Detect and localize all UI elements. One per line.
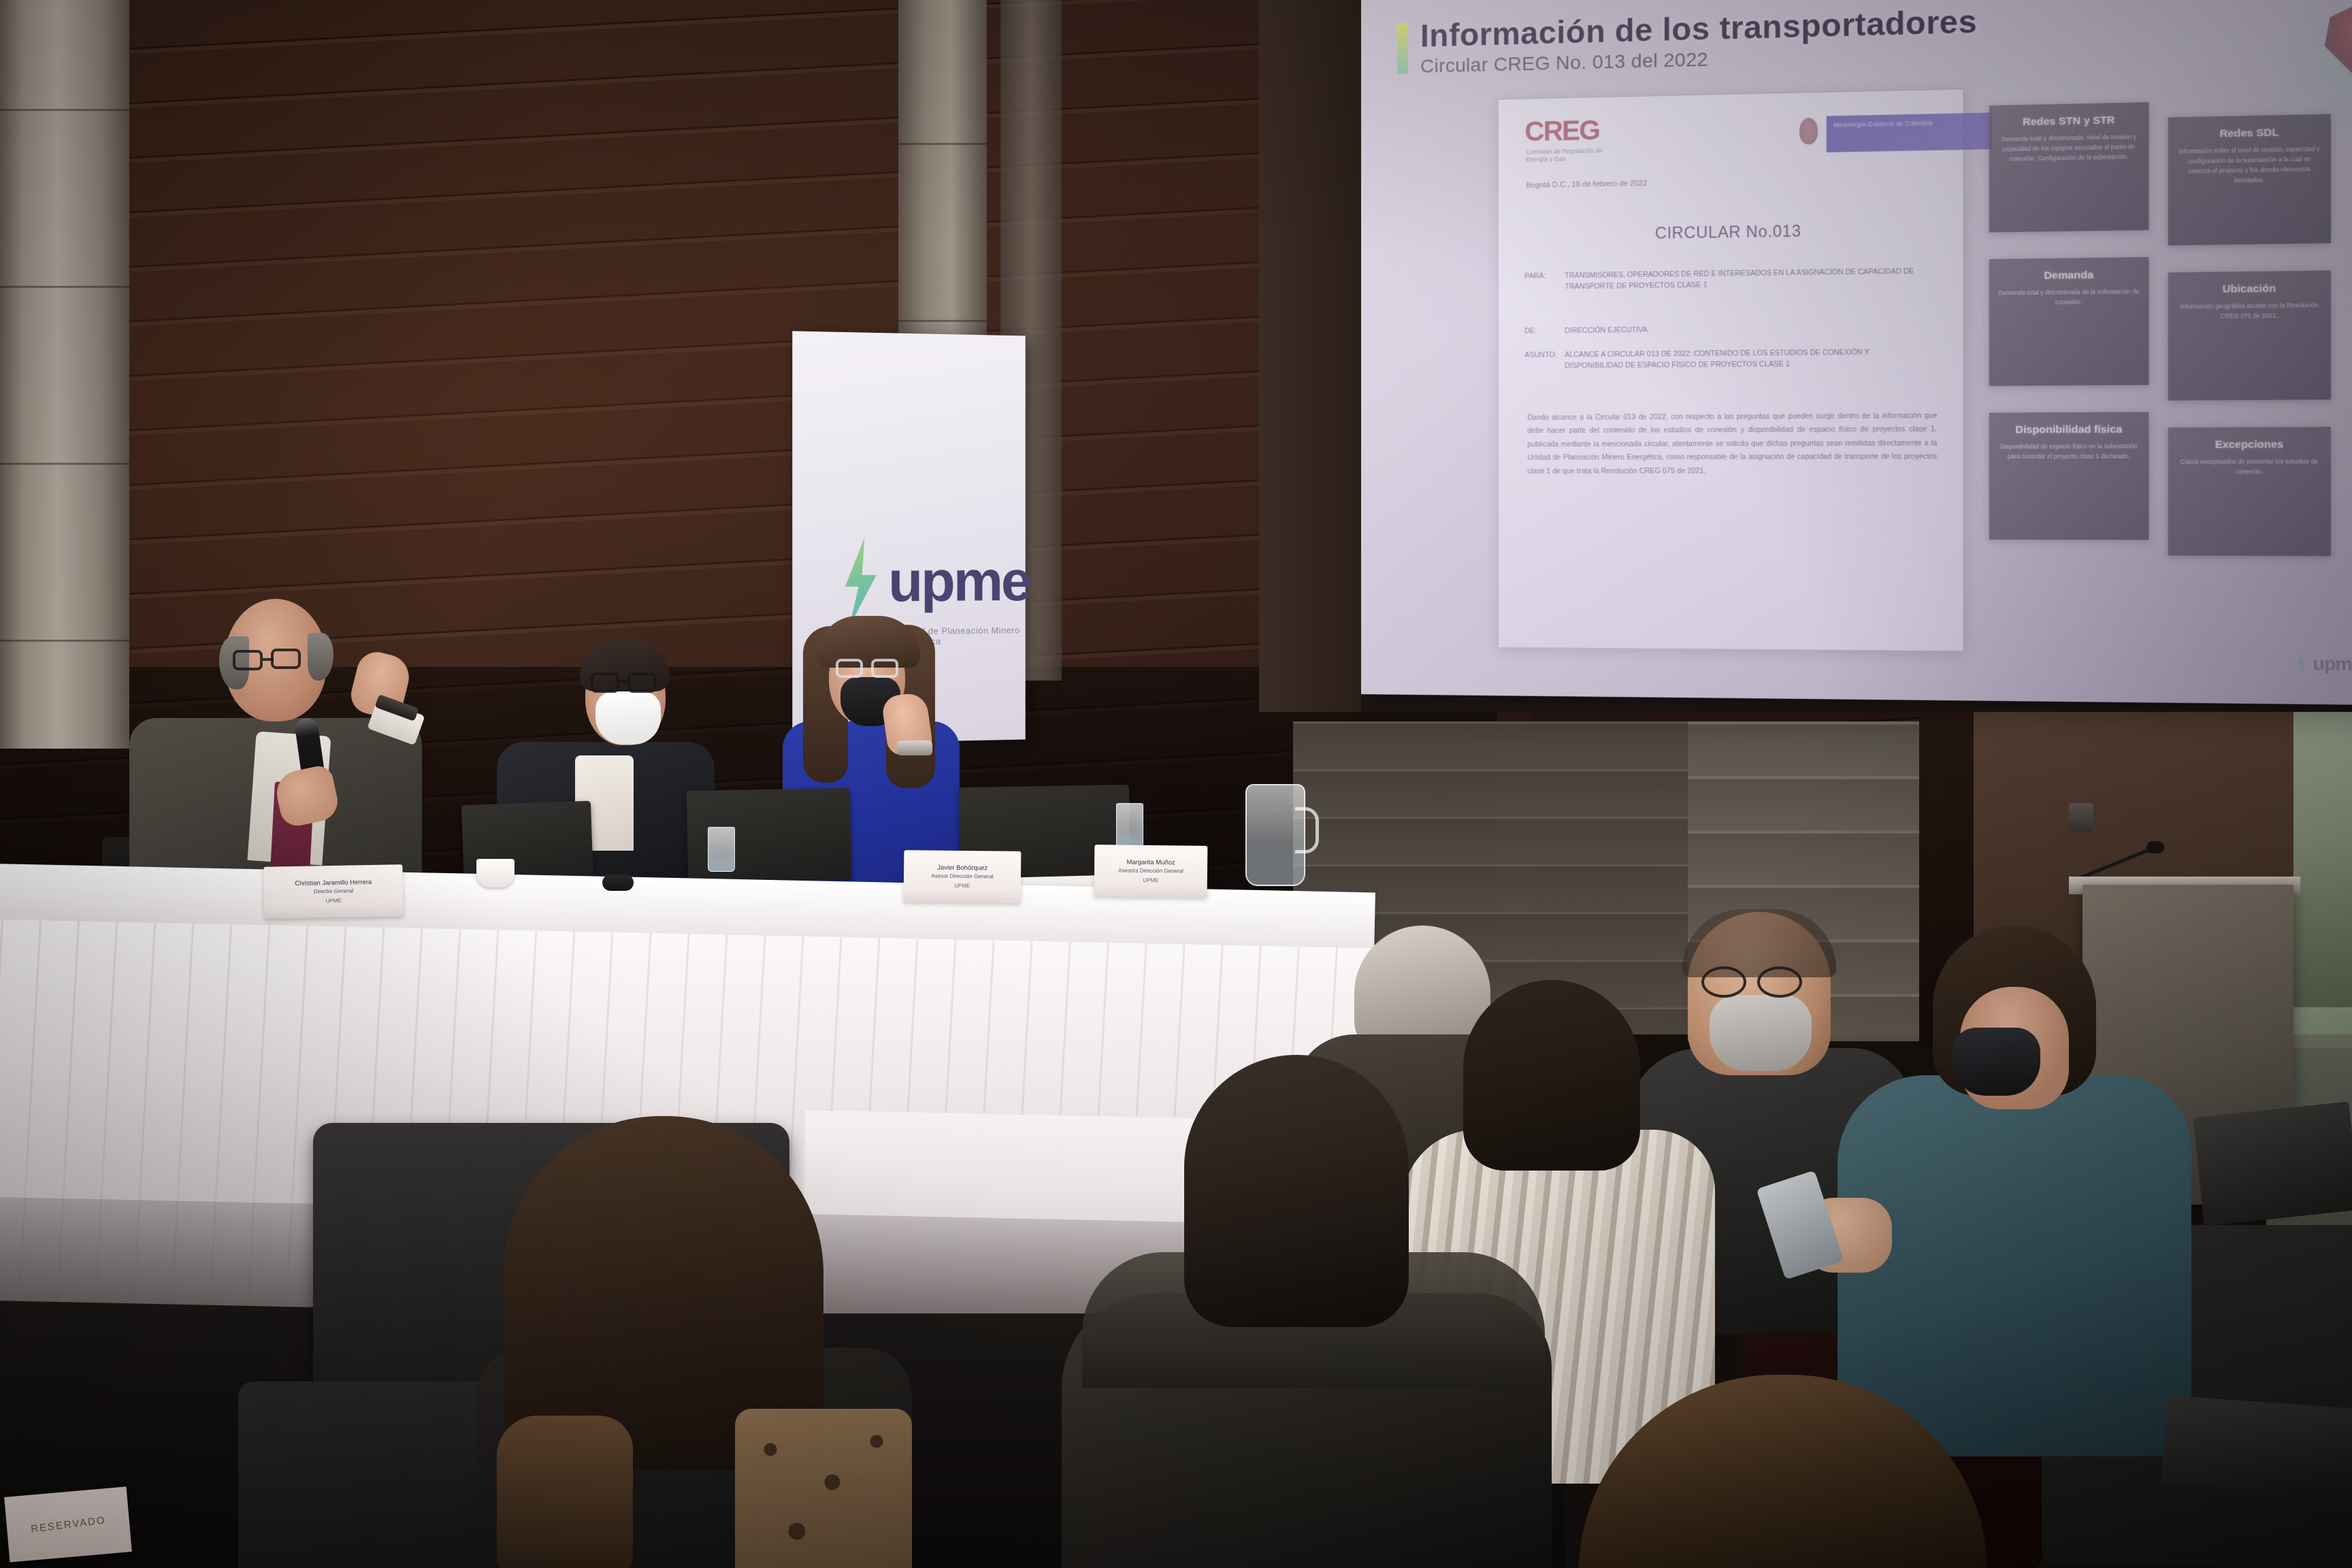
info-box-title: Redes STN y STR xyxy=(1997,114,2142,129)
name-card: Christian Jaramillo Herrera Director Gen… xyxy=(263,864,403,919)
info-box-excepciones: Excepciones Casos exceptuados de present… xyxy=(2168,427,2331,556)
government-seal-icon xyxy=(1799,118,1818,145)
field-key-de: DE: xyxy=(1524,325,1565,337)
slide-upme-wordmark: upme xyxy=(2313,653,2352,675)
laptop-icon xyxy=(2193,1101,2352,1226)
info-box-title: Demanda xyxy=(1997,269,2142,282)
concrete-column-left xyxy=(0,0,129,749)
creg-logo-subtitle: Comisión de Regulación de Energía y Gas xyxy=(1526,147,1609,164)
name-card-org: UPME xyxy=(326,898,342,904)
name-card-role: Asesora Dirección General xyxy=(1118,867,1183,875)
audience-patterned-coat xyxy=(735,1409,912,1568)
microphone-icon xyxy=(2146,841,2164,853)
face-mask-icon xyxy=(1710,995,1812,1071)
government-brand-bar: Minenergía Gobierno de Colombia xyxy=(1827,112,1992,152)
audience-head xyxy=(1184,1055,1409,1327)
slide-info-box-grid: Redes STN y STR Demanda total y discrimi… xyxy=(1989,98,2345,600)
info-box-redes-stn-str: Redes STN y STR Demanda total y discrimi… xyxy=(1989,102,2149,232)
slide-title-bar: Información de los transportadores Circu… xyxy=(1385,0,2337,93)
info-box-title: Excepciones xyxy=(2176,438,2323,451)
reserved-sign: RESERVADO xyxy=(4,1486,132,1562)
name-card-name: Christian Jaramillo Herrera xyxy=(295,879,372,889)
face-mask-icon xyxy=(1952,1028,2040,1096)
name-card-org: UPME xyxy=(954,883,970,889)
info-box-ubicacion: Ubicación Información geográfica acorde … xyxy=(2168,270,2331,400)
screen-left-shadow xyxy=(1259,0,1361,712)
name-card: Margarita Muñoz Asesora Dirección Genera… xyxy=(1094,845,1208,898)
conference-photo-scene: Información de los transportadores Circu… xyxy=(0,0,2352,1568)
document-body-paragraph: Dando alcance a la Circular 013 de 2022,… xyxy=(1527,410,1937,478)
info-box-body: Disponibilidad de espacio físico en la s… xyxy=(1998,441,2140,461)
info-box-body: Información sobre el nivel de tensión, c… xyxy=(2177,144,2322,186)
reserved-sign-label: RESERVADO xyxy=(30,1514,106,1535)
document-field-asunto: ASUNTO:ALCANCE A CIRCULAR 013 DE 2022: C… xyxy=(1524,346,1918,372)
info-box-body: Casos exceptuados de presentar los estud… xyxy=(2177,456,2322,476)
audience-head xyxy=(1463,980,1640,1171)
name-card-role: Asesor Dirección General xyxy=(931,872,993,880)
laptop-icon xyxy=(2161,1395,2352,1497)
info-box-body: Demanda total y discriminada de la subes… xyxy=(1998,287,2140,308)
info-box-disponibilidad-fisica: Disponibilidad física Disponibilidad de … xyxy=(1989,412,2149,540)
projection-screen: Información de los transportadores Circu… xyxy=(1358,0,2352,706)
creg-logo: CREG xyxy=(1524,115,1599,148)
slide-accent-bolt-icon xyxy=(1397,23,1408,74)
slide-title: Información de los transportadores xyxy=(1420,2,1977,54)
audience-shoulders xyxy=(1837,1075,2191,1456)
document-field-para: PARA:TRANSMISORES, OPERADORES DE RED E I… xyxy=(1524,265,1918,293)
lightning-bolt-icon xyxy=(2296,651,2308,676)
name-card-role: Director General xyxy=(314,887,354,895)
government-brand-text: Minenergía Gobierno de Colombia xyxy=(1833,119,1932,129)
field-key-asunto: ASUNTO: xyxy=(1524,349,1565,361)
wall-fixture-icon xyxy=(2069,803,2093,832)
info-box-body: Información geográfica acorde con la Res… xyxy=(2177,300,2322,322)
water-pitcher xyxy=(1245,784,1305,886)
info-box-body: Demanda total y discriminada. Nivel de t… xyxy=(1998,131,2140,164)
info-box-demanda: Demanda Demanda total y discriminada de … xyxy=(1989,257,2149,386)
document-field-de: DE:DIRECCIÓN EJECUTIVA xyxy=(1524,322,1918,337)
name-card-name: Javier Bohórquez xyxy=(937,864,987,874)
name-card-name: Margarita Muñoz xyxy=(1126,859,1175,868)
name-card-org: UPME xyxy=(1143,877,1158,883)
lightning-bolt-icon xyxy=(839,538,881,627)
computer-mouse-icon xyxy=(602,875,634,891)
circular-document-card: CREG Comisión de Regulación de Energía y… xyxy=(1498,88,1964,651)
document-place-date: Bogotá D.C., 18 de febrero de 2022 xyxy=(1526,179,1647,189)
field-value-para: TRANSMISORES, OPERADORES DE RED E INTERE… xyxy=(1565,265,1918,293)
field-value-asunto: ALCANCE A CIRCULAR 013 DE 2022: CONTENID… xyxy=(1565,346,1918,372)
slide-upme-watermark: upme xyxy=(2296,647,2352,681)
water-glass xyxy=(708,827,735,872)
name-card: Javier Bohórquez Asesor Dirección Genera… xyxy=(904,850,1022,903)
face-mask-icon xyxy=(595,691,661,745)
coffee-cup xyxy=(476,859,514,887)
field-value-de: DIRECCIÓN EJECUTIVA xyxy=(1565,322,1918,337)
info-box-title: Disponibilidad física xyxy=(1997,423,2142,436)
document-heading: CIRCULAR No.013 xyxy=(1499,219,1963,245)
banner-wordmark: upme xyxy=(888,549,1030,615)
audience-hair xyxy=(497,1416,633,1568)
water-glass xyxy=(1116,803,1143,848)
wristwatch-icon xyxy=(897,740,932,755)
field-key-para: PARA: xyxy=(1524,270,1565,282)
info-box-redes-sdl: Redes SDL Información sobre el nivel de … xyxy=(2168,114,2331,246)
info-box-title: Redes SDL xyxy=(2176,126,2323,141)
info-box-title: Ubicación xyxy=(2176,282,2323,295)
